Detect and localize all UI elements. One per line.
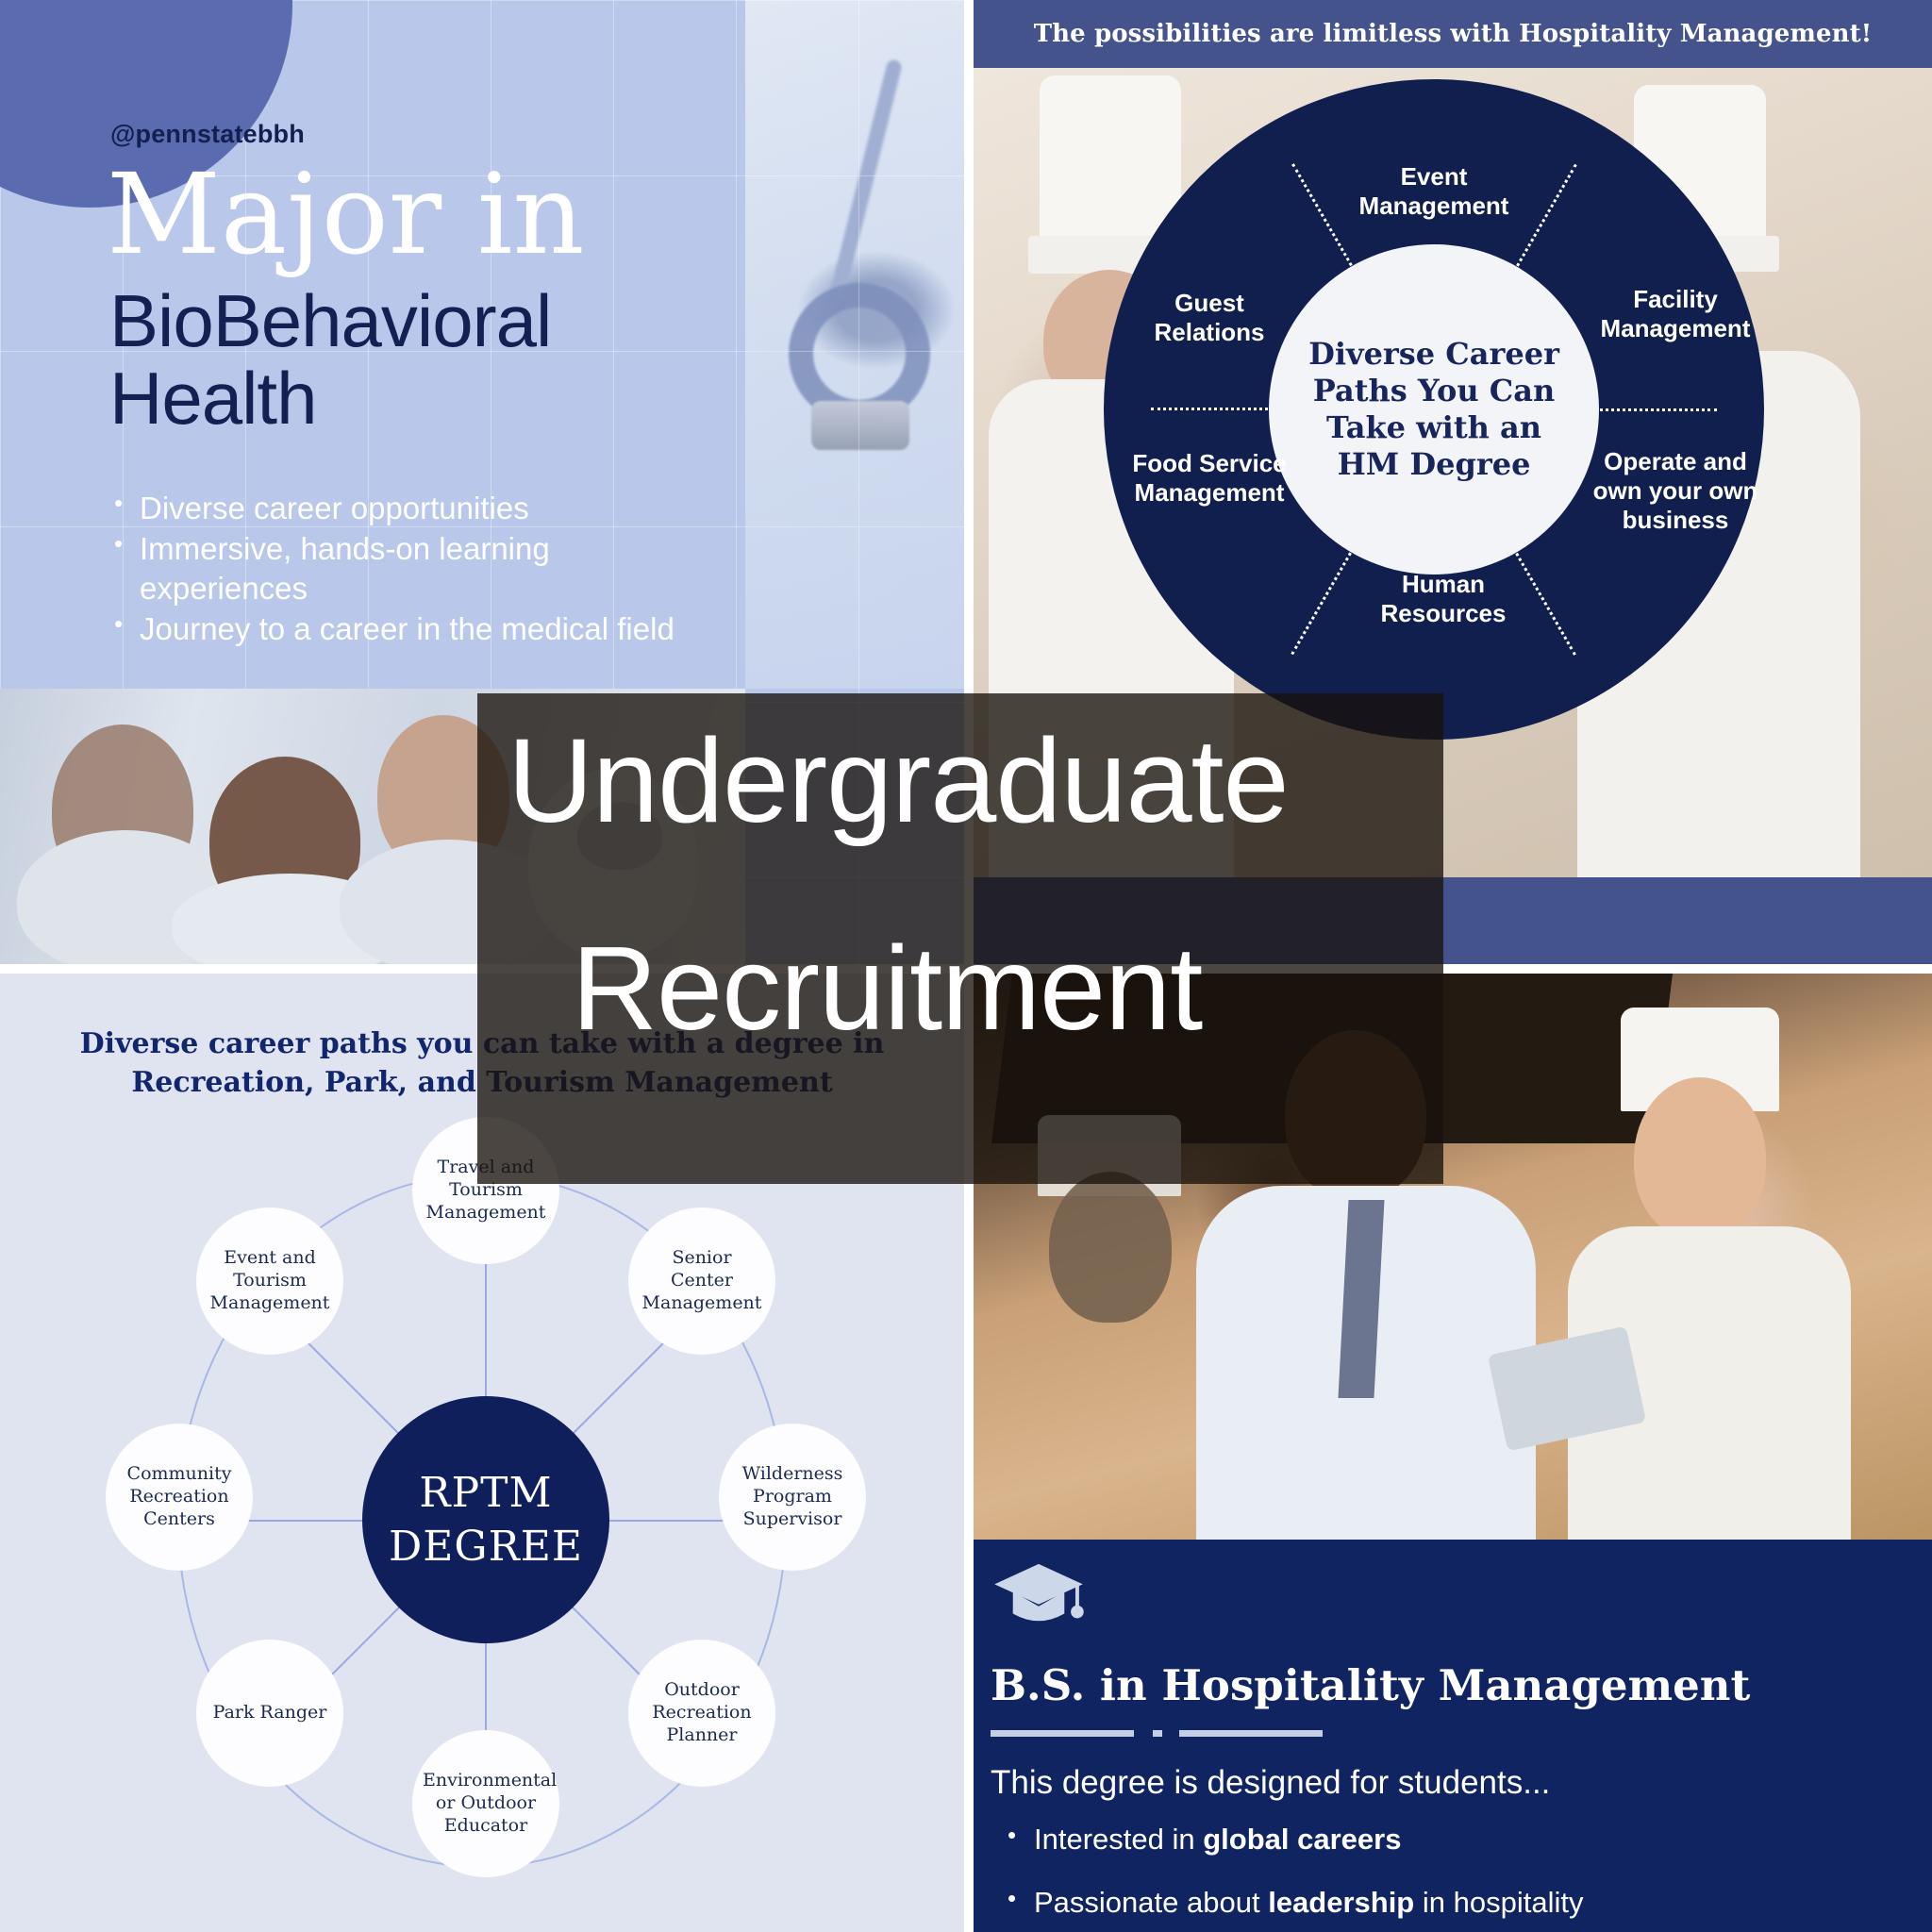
wheel-divider	[1291, 163, 1356, 271]
divider-dot	[1153, 1730, 1162, 1737]
list-item: Diverse career opportunities	[111, 489, 715, 529]
bbh-title-line3: Health	[109, 360, 551, 438]
bullet-emphasis: leadership	[1268, 1886, 1414, 1919]
list-item: Passionate about leadership in hospitali…	[1002, 1886, 1907, 1921]
title-overlay: Undergraduate Recruitment	[477, 693, 1443, 1184]
wheel-label-facility-management: Facility Management	[1591, 285, 1760, 343]
rptm-node-environmental-educator: Environmental or Outdoor Educator	[412, 1730, 559, 1877]
bshm-info-panel: B.S. in Hospitality Management This degr…	[974, 1540, 1932, 1932]
wheel-divider	[1594, 408, 1717, 411]
bshm-divider	[991, 1726, 1387, 1740]
hm-banner: The possibilities are limitless with Hos…	[974, 0, 1932, 68]
wheel-divider	[1512, 548, 1576, 656]
wheel-divider	[1513, 164, 1577, 272]
list-item: Interested in global careers	[1002, 1823, 1907, 1857]
rptm-node-outdoor-recreation-planner: Outdoor Recreation Planner	[628, 1640, 775, 1787]
wheel-label-own-business: Operate and own your own business	[1581, 447, 1770, 536]
rptm-node-wilderness-program: Wilderness Program Supervisor	[719, 1424, 866, 1571]
bbh-social-handle: @pennstatebbh	[110, 120, 305, 149]
wheel-divider	[1291, 547, 1355, 655]
bullet-emphasis: global careers	[1203, 1823, 1401, 1856]
hm-banner-text: The possibilities are limitless with Hos…	[1034, 20, 1873, 48]
bbh-bullet-list: Diverse career opportunities Immersive, …	[111, 489, 715, 649]
bullet-suffix: in hospitality	[1414, 1886, 1583, 1919]
bshm-heading: B.S. in Hospitality Management	[991, 1660, 1750, 1710]
rptm-node-senior-center: Senior Center Management	[628, 1207, 775, 1355]
poster-collage: @pennstatebbh Major in BioBehavioral Hea…	[0, 0, 1932, 1932]
wheel-label-event-management: Event Management	[1358, 162, 1509, 221]
hm-wheel-hub: Diverse Career Paths You Can Take with a…	[1269, 244, 1599, 575]
wheel-divider	[1151, 408, 1274, 410]
rptm-node-community-recreation: Community Recreation Centers	[106, 1424, 253, 1571]
bshm-lead-text: This degree is designed for students...	[991, 1764, 1550, 1802]
rptm-hub-line2: DEGREE	[389, 1520, 583, 1574]
wheel-label-guest-relations: Guest Relations	[1124, 289, 1294, 347]
bbh-title-sans: BioBehavioral Health	[109, 283, 551, 438]
rptm-node-park-ranger: Park Ranger	[196, 1640, 343, 1787]
bshm-bullet-list: Interested in global careers Passionate …	[1002, 1823, 1907, 1932]
list-item: Journey to a career in the medical field	[111, 609, 715, 650]
graduation-cap-icon	[992, 1560, 1085, 1632]
bullet-prefix: Interested in	[1034, 1823, 1203, 1856]
bbh-title-serif: Major in	[107, 158, 584, 270]
rptm-hub-line1: RPTM	[389, 1466, 583, 1520]
hm-career-wheel: Diverse Career Paths You Can Take with a…	[1104, 79, 1764, 740]
overlay-title-line1: Undergraduate	[508, 722, 1289, 841]
divider-segment	[991, 1730, 1134, 1737]
rptm-node-event-tourism: Event and Tourism Management	[196, 1207, 343, 1355]
wheel-label-food-service: Food Service Management	[1115, 449, 1304, 508]
overlay-title-line2: Recruitment	[572, 929, 1202, 1048]
rptm-hub-text: RPTM DEGREE	[389, 1466, 583, 1574]
wheel-label-human-resources: Human Resources	[1368, 570, 1519, 628]
hm-wheel-hub-text: Diverse Career Paths You Can Take with a…	[1302, 336, 1566, 483]
rptm-diagram: RPTM DEGREE Travel and Tourism Managemen…	[57, 1115, 906, 1926]
chef-hat-shape	[1040, 75, 1181, 245]
bbh-title-line2: BioBehavioral	[109, 283, 551, 360]
background-chef-shape	[1049, 1172, 1172, 1323]
chef-head-shape	[1634, 1077, 1766, 1240]
list-item: Immersive, hands-on learning experiences	[111, 529, 715, 609]
divider-segment	[1179, 1730, 1323, 1737]
bullet-prefix: Passionate about	[1034, 1886, 1268, 1919]
rptm-hub: RPTM DEGREE	[362, 1396, 609, 1643]
